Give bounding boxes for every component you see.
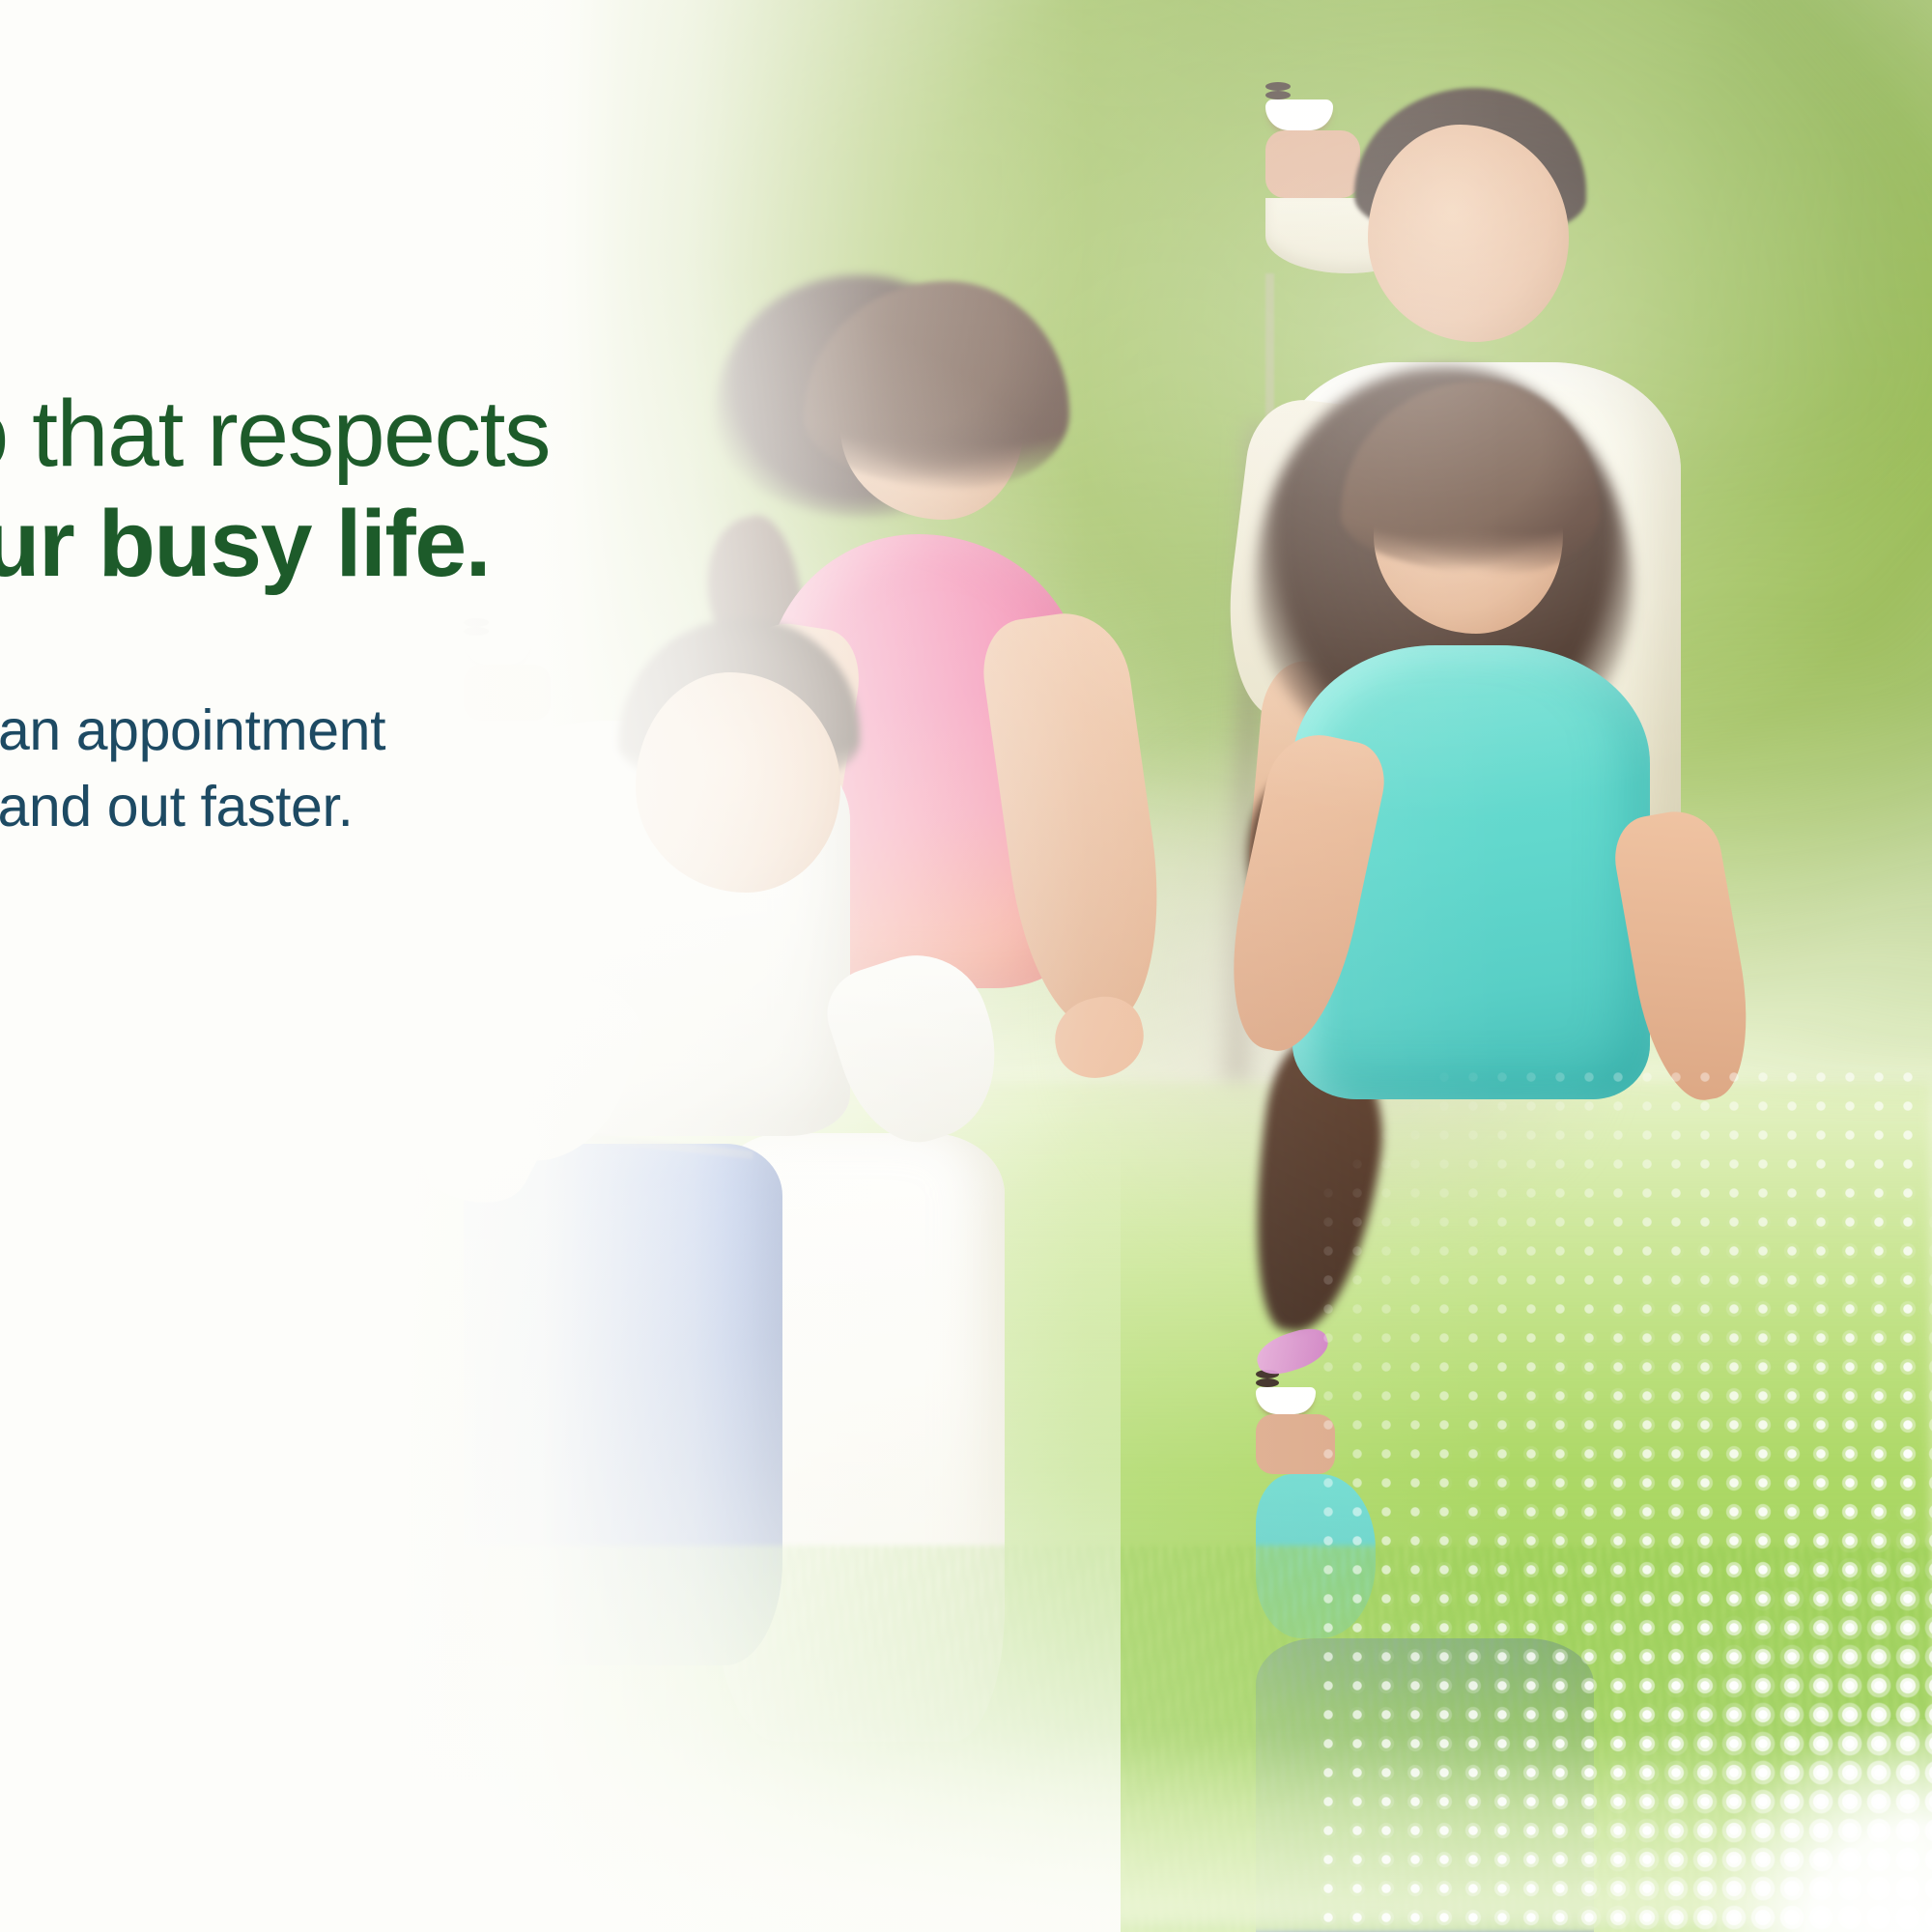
father-neck bbox=[1265, 130, 1360, 198]
headline-line1-rest: that respects bbox=[8, 381, 550, 486]
hero-subcopy: dule an appointmentet in and out faster. bbox=[0, 693, 746, 845]
grass-foreground-blur bbox=[0, 1739, 1932, 1932]
headline-line2: your busy life. bbox=[0, 489, 746, 599]
father-eye-left bbox=[1265, 82, 1291, 91]
hero-copy-block: lab that respectsyour busy life. dule an… bbox=[0, 379, 746, 845]
hero-banner: lab that respectsyour busy life. dule an… bbox=[0, 0, 1932, 1932]
headline-lead-word: lab bbox=[0, 381, 8, 486]
father-smile bbox=[1265, 99, 1333, 130]
hero-photograph bbox=[0, 0, 1932, 1932]
girl-neck bbox=[1256, 1414, 1335, 1474]
hero-headline: lab that respectsyour busy life. bbox=[0, 379, 746, 600]
subcopy-line2: et in and out faster. bbox=[0, 769, 746, 845]
person-girl bbox=[1256, 367, 1797, 1575]
girl-eye-right bbox=[1256, 1378, 1279, 1387]
girl-hair-clip bbox=[1252, 1322, 1333, 1380]
subcopy-line1: dule an appointment bbox=[0, 698, 385, 762]
girl-smile bbox=[1256, 1387, 1316, 1414]
father-eye-right bbox=[1265, 91, 1291, 99]
